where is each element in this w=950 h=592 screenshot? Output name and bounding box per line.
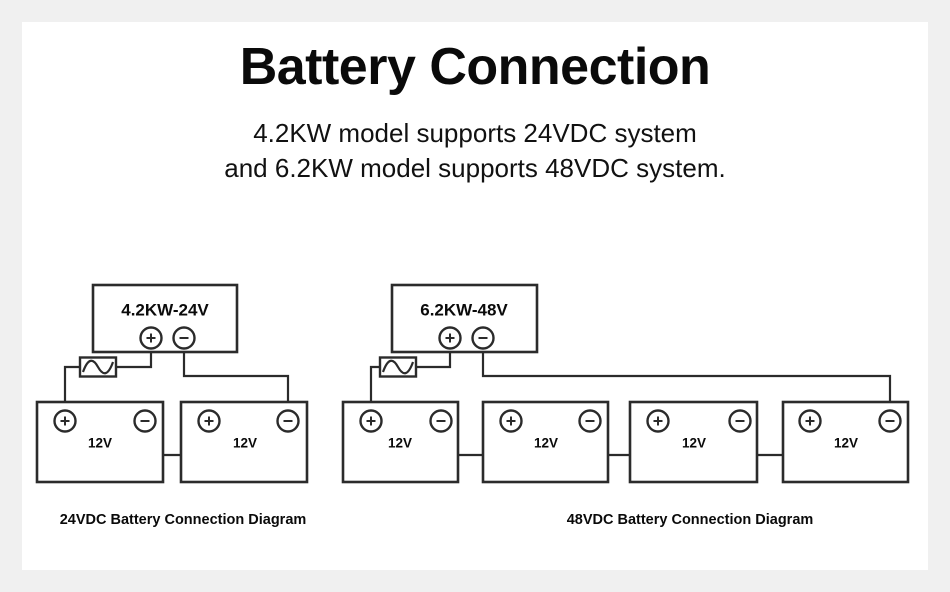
battery-48v-3-negative-terminal[interactable] xyxy=(730,411,751,432)
battery-connection-schematic: 4.2KW-24V xyxy=(0,0,950,592)
battery-24v-1[interactable]: 12V xyxy=(37,402,163,482)
diagram-48vdc-caption: 48VDC Battery Connection Diagram xyxy=(567,512,814,528)
diagram-48vdc: 6.2KW-48V xyxy=(343,285,908,528)
battery-48v-2-label: 12V xyxy=(534,436,558,451)
battery-48v-1[interactable]: 12V xyxy=(343,402,458,482)
battery-48v-4[interactable]: 12V xyxy=(783,402,908,482)
battery-48v-1-label: 12V xyxy=(388,436,412,451)
page-root: Battery Connection 4.2KW model supports … xyxy=(0,0,950,592)
battery-24v-1-negative-terminal[interactable] xyxy=(135,411,156,432)
battery-24v-1-label: 12V xyxy=(88,436,112,451)
fuse-48v[interactable] xyxy=(380,358,416,377)
battery-24v-1-positive-terminal[interactable] xyxy=(55,411,76,432)
battery-48v-2-negative-terminal[interactable] xyxy=(580,411,601,432)
diagrams-area: 4.2KW-24V xyxy=(0,0,950,592)
battery-48v-3-label: 12V xyxy=(682,436,706,451)
battery-48v-2[interactable]: 12V xyxy=(483,402,608,482)
content-canvas: Battery Connection 4.2KW model supports … xyxy=(22,22,928,570)
inverter-48v-negative-terminal[interactable] xyxy=(473,328,494,349)
battery-48v-3-positive-terminal[interactable] xyxy=(648,411,669,432)
battery-48v-2-positive-terminal[interactable] xyxy=(501,411,522,432)
inverter-24v-label: 4.2KW-24V xyxy=(121,300,209,319)
inverter-48v[interactable]: 6.2KW-48V xyxy=(392,285,537,352)
battery-48v-4-negative-terminal[interactable] xyxy=(880,411,901,432)
battery-24v-2-label: 12V xyxy=(233,436,257,451)
inverter-48v-label: 6.2KW-48V xyxy=(420,300,508,319)
battery-24v-2-negative-terminal[interactable] xyxy=(278,411,299,432)
fuse-24v[interactable] xyxy=(80,358,116,377)
inverter-24v[interactable]: 4.2KW-24V xyxy=(93,285,237,352)
inverter-24v-negative-terminal[interactable] xyxy=(174,328,195,349)
battery-48v-1-positive-terminal[interactable] xyxy=(361,411,382,432)
battery-48v-1-negative-terminal[interactable] xyxy=(431,411,452,432)
battery-24v-2-positive-terminal[interactable] xyxy=(199,411,220,432)
inverter-24v-positive-terminal[interactable] xyxy=(141,328,162,349)
battery-24v-2[interactable]: 12V xyxy=(181,402,307,482)
battery-48v-4-label: 12V xyxy=(834,436,858,451)
inverter-48v-positive-terminal[interactable] xyxy=(440,328,461,349)
battery-48v-4-positive-terminal[interactable] xyxy=(800,411,821,432)
battery-48v-3[interactable]: 12V xyxy=(630,402,757,482)
diagram-24vdc: 4.2KW-24V xyxy=(37,285,307,528)
diagram-24vdc-caption: 24VDC Battery Connection Diagram xyxy=(60,512,307,528)
